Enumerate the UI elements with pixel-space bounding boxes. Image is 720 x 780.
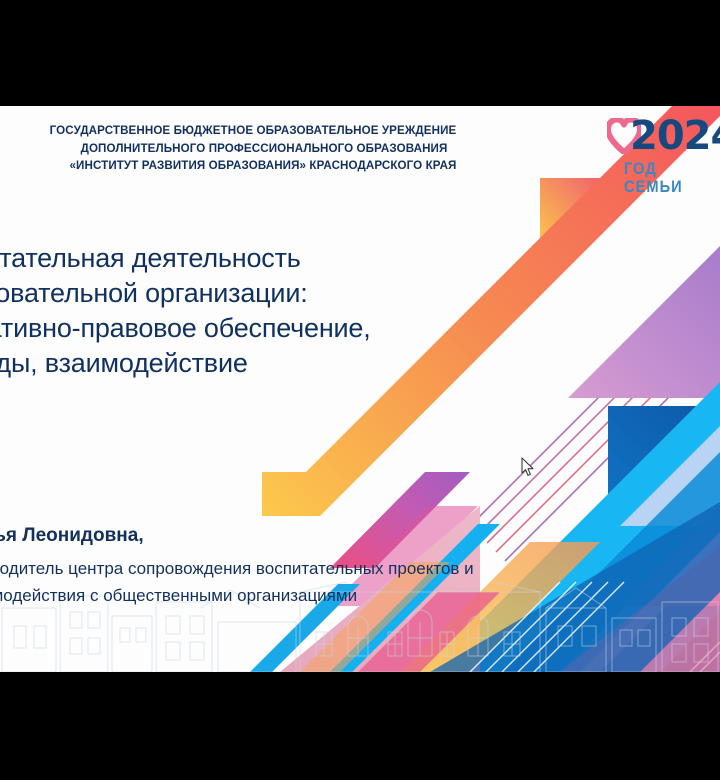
speaker-name: Наталья Леонидовна, [0, 523, 538, 549]
organization-header: ГОСУДАРСТВЕННОЕ БЮДЖЕТНОЕ ОБРАЗОВАТЕЛЬНО… [0, 122, 540, 175]
title-line-1: Воспитательная деятельность [0, 241, 484, 276]
presentation-slide[interactable]: ГОСУДАРСТВЕННОЕ БЮДЖЕТНОЕ ОБРАЗОВАТЕЛЬНО… [0, 106, 720, 672]
speaker-block: Наталья Леонидовна, руководитель центра … [0, 523, 538, 609]
year-of-family-logo: 2024 ГОД СЕМЬИ [600, 110, 720, 202]
title-line-4: подходы, взаимодействие [0, 346, 484, 381]
mouse-cursor-icon [521, 457, 535, 477]
title-line-2: образовательной организации: [0, 276, 484, 311]
logo-year: 2024 [630, 116, 720, 156]
screen-viewport: ГОСУДАРСТВЕННОЕ БЮДЖЕТНОЕ ОБРАЗОВАТЕЛЬНО… [0, 0, 720, 780]
slide-title: Воспитательная деятельность образователь… [0, 241, 484, 381]
speaker-role-line-2: взаимодействия с общественными организац… [0, 582, 538, 609]
org-header-line-1: ГОСУДАРСТВЕННОЕ БЮДЖЕТНОЕ ОБРАЗОВАТЕЛЬНО… [0, 122, 540, 140]
logo-subtitle: ГОД СЕМЬИ [624, 160, 707, 196]
title-line-3: нормативно-правовое обеспечение, [0, 311, 484, 346]
speaker-role-line-1: руководитель центра сопровождения воспит… [0, 555, 538, 582]
org-header-line-2: ДОПОЛНИТЕЛЬНОГО ПРОФЕССИОНАЛЬНОГО ОБРАЗО… [0, 140, 540, 158]
org-header-line-3: «ИНСТИТУТ РАЗВИТИЯ ОБРАЗОВАНИЯ» КРАСНОДА… [0, 157, 540, 175]
